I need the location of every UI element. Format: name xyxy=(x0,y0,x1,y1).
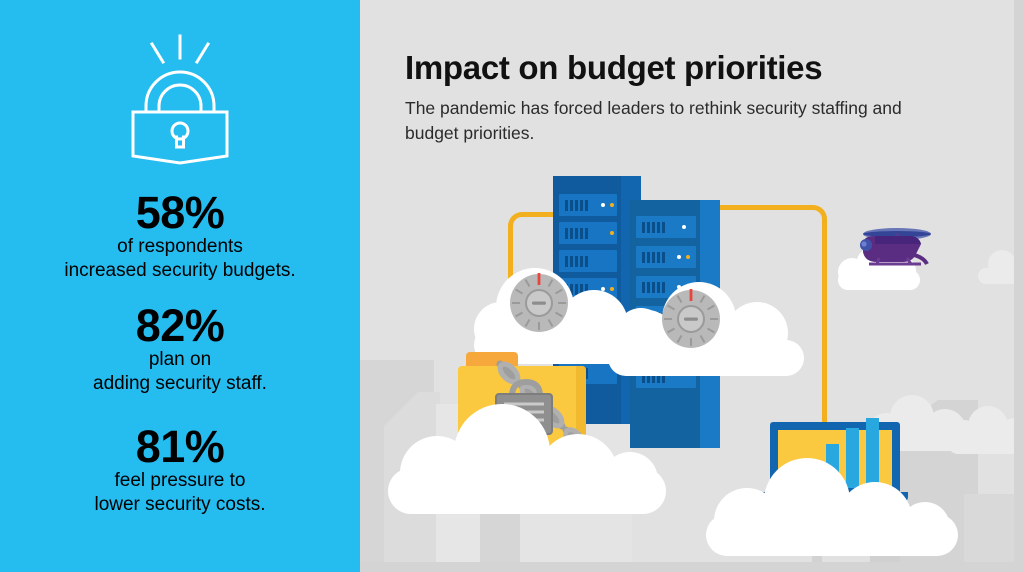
stat-line: lower security costs. xyxy=(0,493,360,517)
cloud-laptop xyxy=(706,458,958,556)
cloud-folder xyxy=(388,404,666,514)
page-title: Impact on budget priorities xyxy=(405,50,965,86)
drone-helicopter xyxy=(845,220,937,272)
stat-percent: 81% xyxy=(0,424,360,469)
padlock-icon xyxy=(0,28,360,168)
stat-line: adding security staff. xyxy=(0,372,360,396)
panel-edge-right xyxy=(1014,0,1024,572)
page-subtitle: The pandemic has forced leaders to rethi… xyxy=(405,96,925,146)
combination-dial-left xyxy=(508,272,570,334)
stat-percent: 82% xyxy=(0,303,360,348)
stat-line: feel pressure to xyxy=(0,469,360,493)
stat-block: 82% plan on adding security staff. xyxy=(0,303,360,397)
stat-line: plan on xyxy=(0,348,360,372)
stat-block: 81% feel pressure to lower security cost… xyxy=(0,424,360,518)
stat-block: 58% of respondents increased security bu… xyxy=(0,190,360,284)
left-stat-panel: 58% of respondents increased security bu… xyxy=(0,0,360,572)
cloud-background xyxy=(948,406,1024,454)
right-content-panel: Impact on budget priorities The pandemic… xyxy=(360,0,1024,572)
stat-line: of respondents xyxy=(0,235,360,259)
combination-dial-right xyxy=(660,288,722,350)
panel-edge-bottom xyxy=(360,562,1024,572)
slide-canvas: 58% of respondents increased security bu… xyxy=(0,0,1024,572)
stat-percent: 58% xyxy=(0,190,360,235)
stat-line: increased security budgets. xyxy=(0,259,360,283)
